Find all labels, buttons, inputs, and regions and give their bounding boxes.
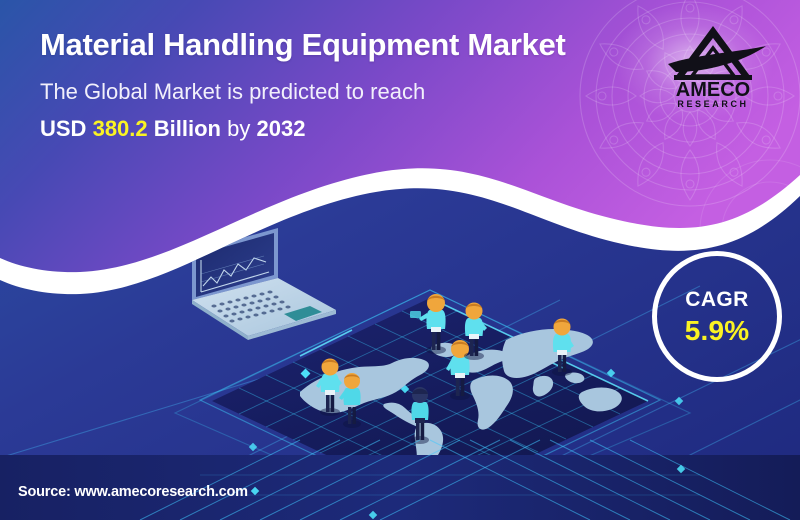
market-value-line: USD 380.2 Billion by 2032 (40, 116, 660, 142)
infographic-canvas: Material Handling Equipment Market The G… (0, 0, 800, 520)
cagr-badge: CAGR 5.9% (652, 251, 782, 382)
isometric-laptop (192, 228, 336, 340)
logo-brand-text: AMECO (676, 79, 750, 101)
value-currency: USD (40, 116, 86, 141)
logo-mark: AMECO RESEARCH (654, 18, 772, 110)
value-unit: Billion (154, 116, 221, 141)
subtitle-text: The Global Market is predicted to reach (40, 79, 660, 105)
logo-subbrand-text: RESEARCH (677, 99, 748, 109)
page-title: Material Handling Equipment Market (40, 28, 660, 63)
ameco-research-logo[interactable]: AMECO RESEARCH (654, 18, 772, 110)
cagr-value: 5.9% (685, 317, 750, 345)
headline-block: Material Handling Equipment Market The G… (40, 28, 660, 143)
cagr-label: CAGR (685, 289, 748, 310)
value-year: 2032 (256, 116, 305, 141)
value-connector: by (227, 116, 250, 141)
swoosh-icon (668, 46, 766, 72)
value-amount: 380.2 (93, 116, 148, 141)
source-attribution: Source: www.amecoresearch.com (18, 484, 248, 500)
